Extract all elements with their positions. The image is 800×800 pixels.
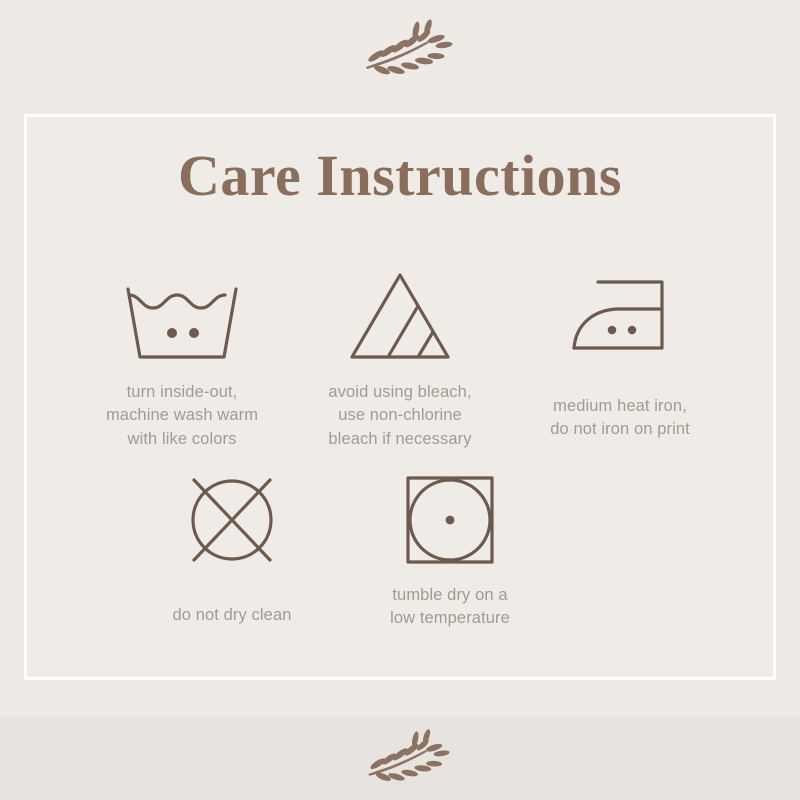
- care-item-bleach: avoid using bleach, use non-chlorine ble…: [294, 269, 506, 451]
- leaf-sprig-top-icon: [352, 18, 456, 84]
- care-item-dry-clean: do not dry clean: [126, 472, 338, 631]
- care-item-machine-wash: turn inside-out, machine wash warm with …: [76, 269, 288, 451]
- care-caption: tumble dry on a low temperature: [390, 584, 510, 631]
- circle-cross-do-not-dry-clean-icon: [184, 472, 280, 568]
- care-row-top: turn inside-out, machine wash warm with …: [27, 269, 773, 451]
- iron-two-dots-icon: [570, 269, 670, 365]
- care-caption: avoid using bleach, use non-chlorine ble…: [328, 381, 471, 451]
- wash-tub-two-dots-icon: [120, 269, 244, 365]
- square-circle-one-dot-tumble-dry-icon: [403, 472, 497, 568]
- care-caption: medium heat iron, do not iron on print: [550, 395, 690, 442]
- care-item-tumble-dry: tumble dry on a low temperature: [344, 472, 556, 631]
- card-panel: Care Instructions turn: [27, 117, 773, 677]
- care-instructions-card: Care Instructions turn: [0, 0, 800, 800]
- care-caption: turn inside-out, machine wash warm with …: [106, 381, 258, 451]
- care-caption: do not dry clean: [172, 604, 291, 627]
- care-item-iron: medium heat iron, do not iron on print: [514, 269, 726, 451]
- triangle-non-chlorine-bleach-icon: [346, 269, 454, 365]
- card-frame: Care Instructions turn: [24, 114, 776, 680]
- care-row-bottom: do not dry clean tumble dry on a low tem…: [27, 472, 773, 631]
- leaf-sprig-bottom-icon: [352, 728, 456, 790]
- page-title: Care Instructions: [27, 147, 773, 205]
